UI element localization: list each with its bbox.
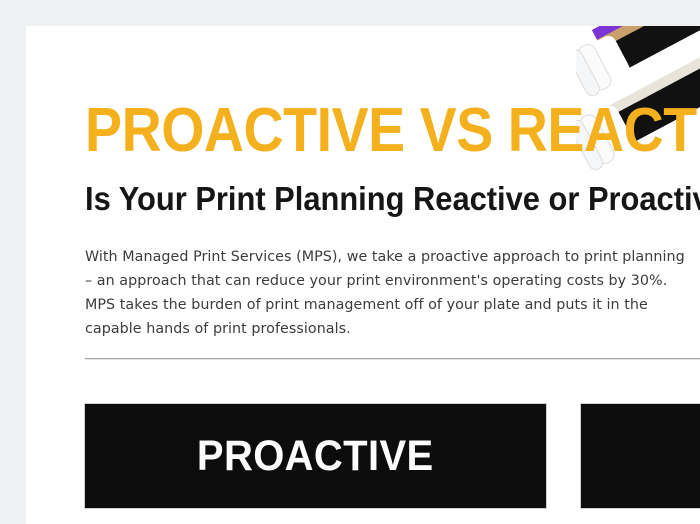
page-subtitle: Is Your Print Planning Reactive or Proac… [85, 181, 700, 217]
page-title: PROACTIVE VS REACTIVE [85, 100, 700, 162]
body-paragraph: With Managed Print Services (MPS), we ta… [85, 245, 685, 341]
comparison-column-label: PROACTIVE [197, 435, 434, 478]
comparison-column-proactive[interactable]: PROACTIVE [85, 404, 546, 508]
content-card: PROACTIVE VS REACTIVE Is Your Print Plan… [26, 26, 700, 524]
comparison-column-reactive[interactable] [581, 404, 700, 508]
section-divider [85, 358, 700, 360]
page-background: PROACTIVE VS REACTIVE Is Your Print Plan… [0, 0, 700, 524]
